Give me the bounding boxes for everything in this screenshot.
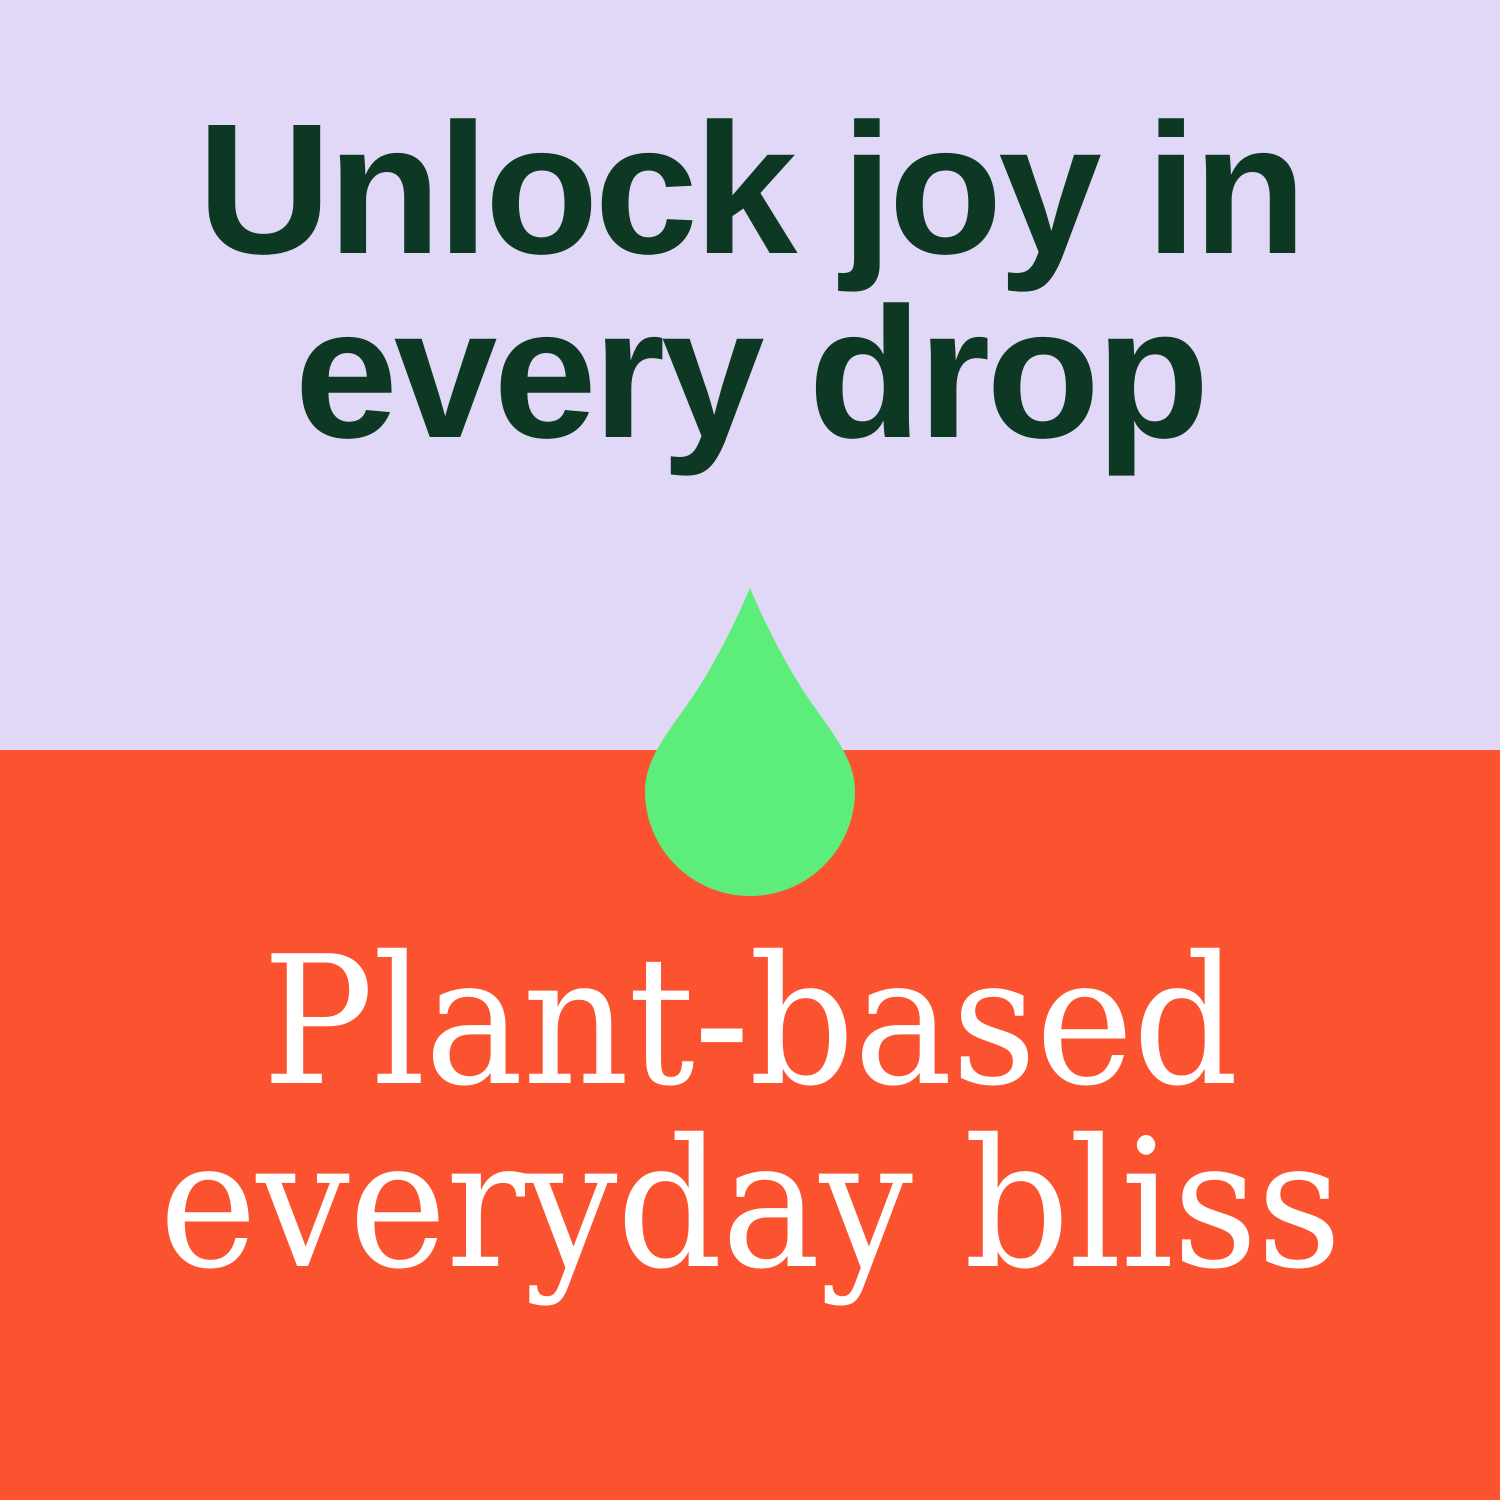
water-droplet-icon [645, 588, 855, 896]
tagline-line-1: Plant-based [53, 930, 1448, 1113]
tagline-line-2: everyday bliss [53, 1113, 1448, 1296]
headline-line-1: Unlock joy in [0, 98, 1500, 282]
promo-poster: Unlock joy in every drop Plant-based eve… [0, 0, 1500, 1500]
tagline: Plant-based everyday bliss [53, 930, 1448, 1297]
headline: Unlock joy in every drop [0, 98, 1500, 466]
headline-line-2: every drop [0, 282, 1500, 466]
